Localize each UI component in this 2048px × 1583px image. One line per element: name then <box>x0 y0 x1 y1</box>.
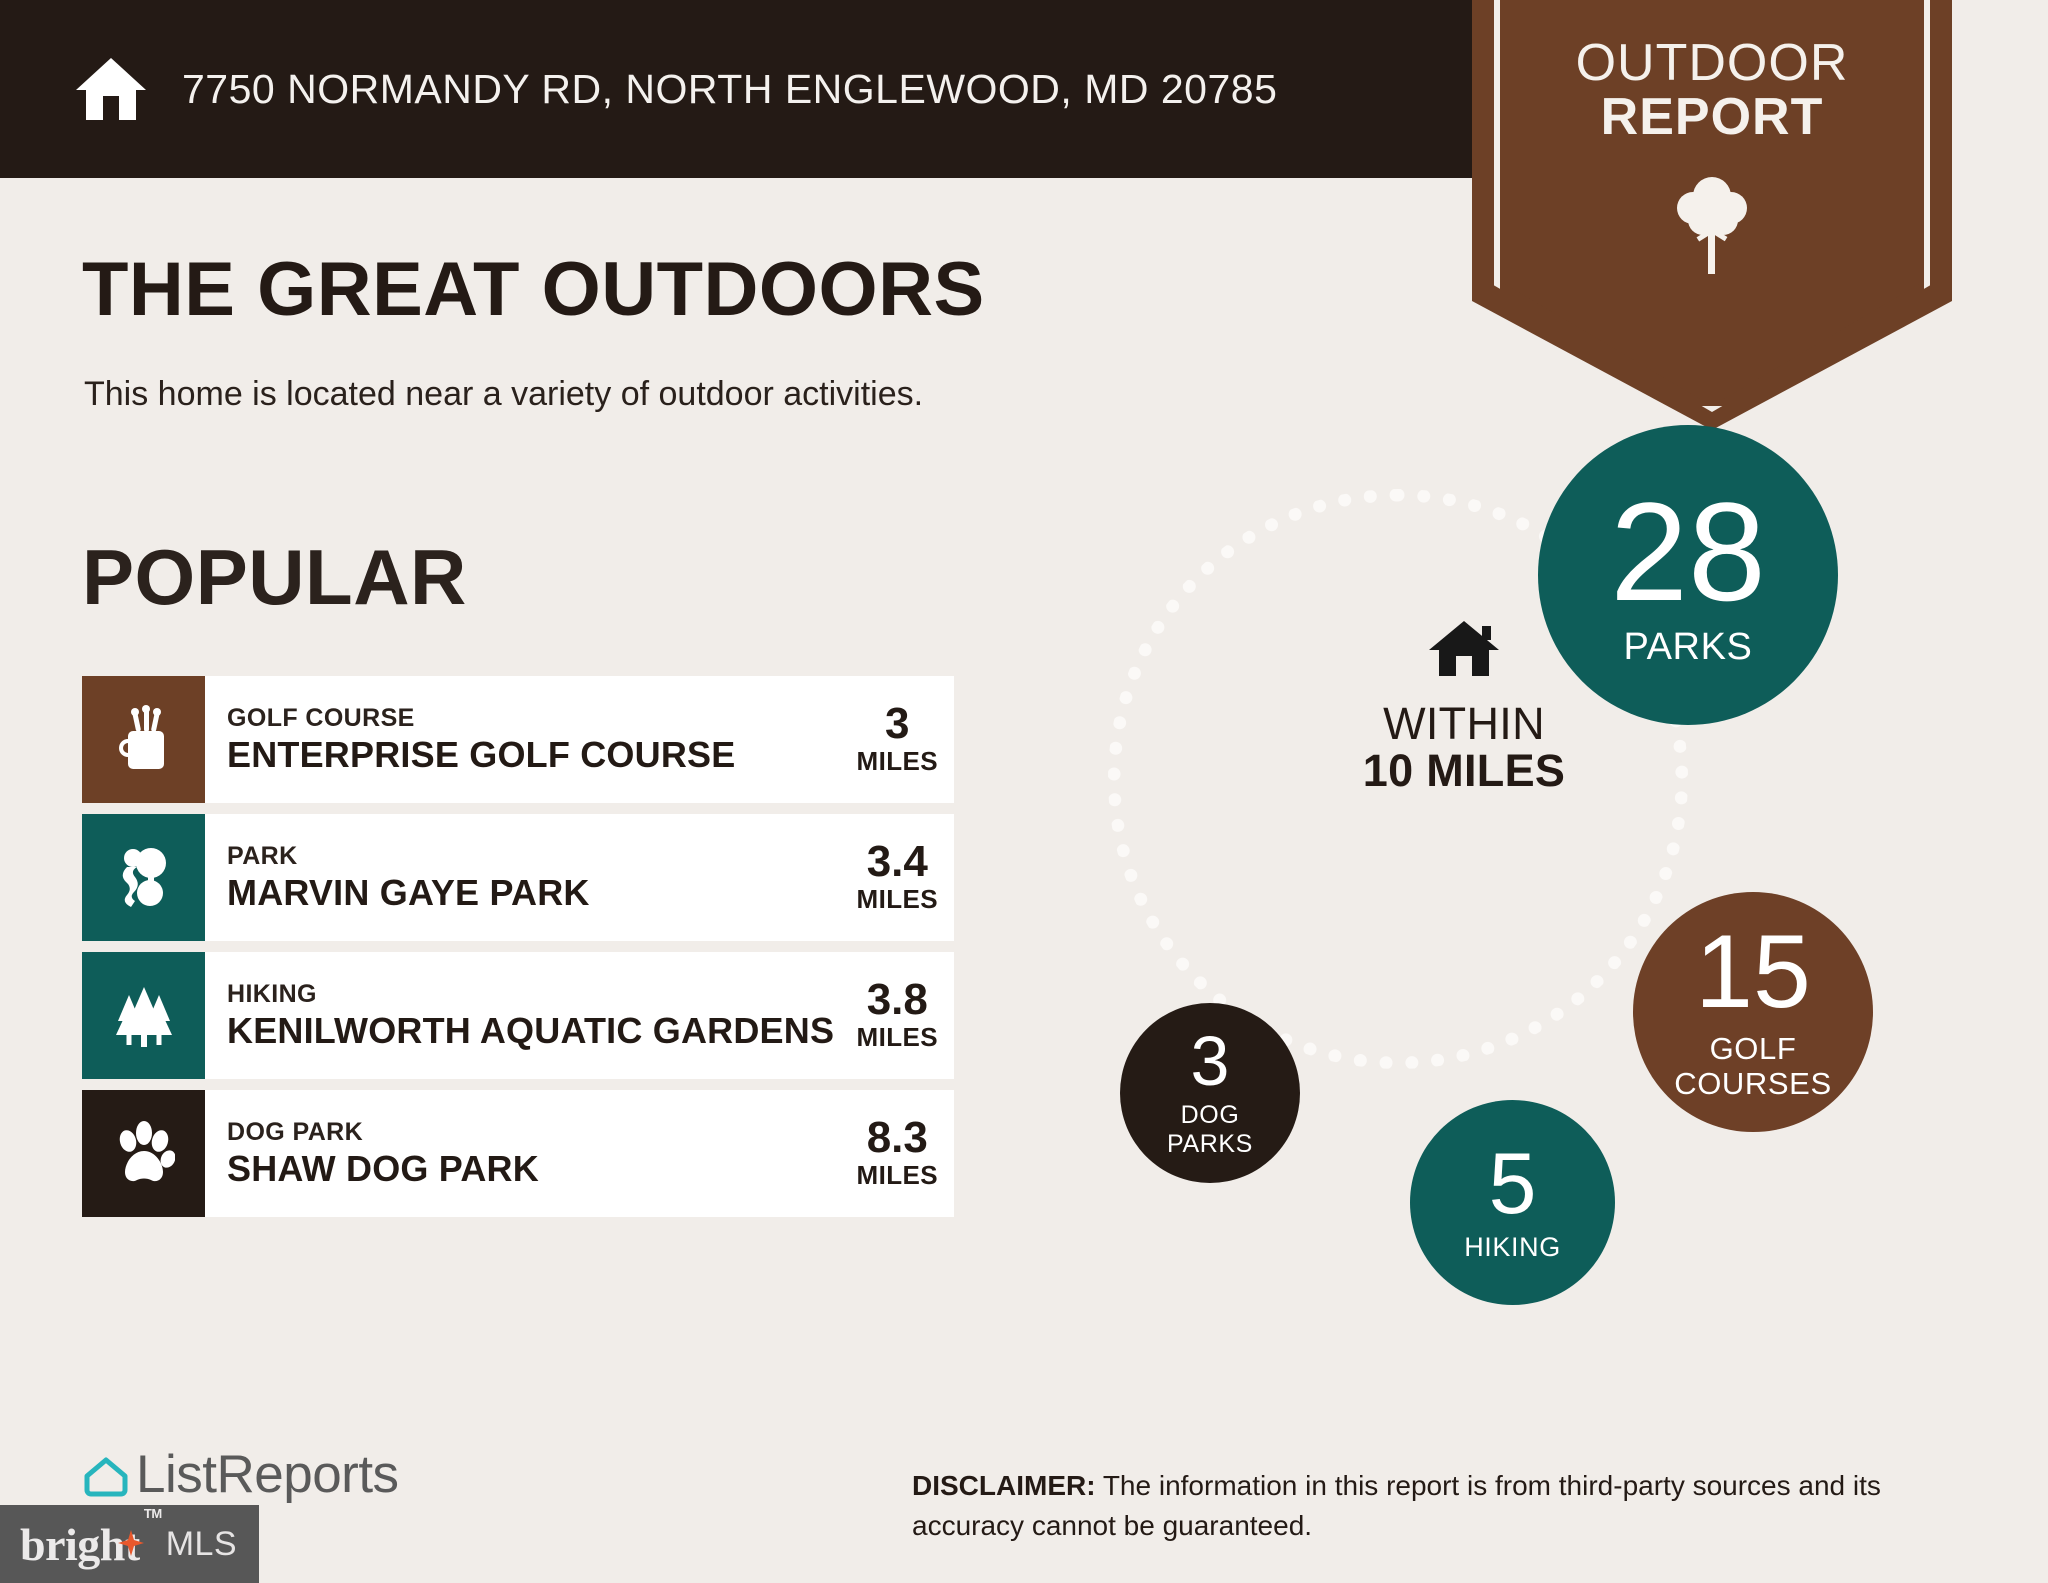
list-item-distance: 3.4 MILES <box>845 840 938 915</box>
trademark-symbol: TM <box>144 1506 162 1521</box>
list-item-distance-unit: MILES <box>857 1022 938 1053</box>
list-item-distance-value: 3.4 <box>857 840 938 884</box>
list-item-name: ENTERPRISE GOLF COURSE <box>227 734 735 775</box>
bubble-golf-label-line2: COURSES <box>1674 1066 1832 1101</box>
list-item-distance-value: 8.3 <box>857 1116 938 1160</box>
list-item-distance-unit: MILES <box>857 746 938 777</box>
bubble-golf-label: GOLF COURSES <box>1674 1031 1832 1102</box>
bright-mls-watermark: bright TM MLS <box>0 1505 259 1583</box>
listreports-wordmark: ListReports <box>136 1444 399 1505</box>
bubble-parks-value: 28 <box>1610 485 1766 618</box>
list-item-category: PARK <box>227 841 590 872</box>
popular-heading: POPULAR <box>82 538 467 616</box>
bubble-golf-courses: 15 GOLF COURSES <box>1633 892 1873 1132</box>
list-item-body: DOG PARK SHAW DOG PARK 8.3 MILES <box>205 1090 954 1217</box>
list-item-texts: HIKING KENILWORTH AQUATIC GARDENS <box>227 979 834 1052</box>
list-item[interactable]: DOG PARK SHAW DOG PARK 8.3 MILES <box>82 1090 954 1217</box>
golf-bag-icon <box>82 676 205 803</box>
chart-center-line1: WITHIN <box>1383 700 1545 747</box>
list-item-name: MARVIN GAYE PARK <box>227 872 590 913</box>
star-icon <box>118 1514 144 1540</box>
list-item-body: PARK MARVIN GAYE PARK 3.4 MILES <box>205 814 954 941</box>
property-address: 7750 NORMANDY RD, NORTH ENGLEWOOD, MD 20… <box>182 66 1277 113</box>
list-item-texts: GOLF COURSE ENTERPRISE GOLF COURSE <box>227 703 735 776</box>
list-item-distance-value: 3.8 <box>857 978 938 1022</box>
bright-wordmark: bright TM <box>20 1518 140 1571</box>
list-item-distance: 3.8 MILES <box>845 978 938 1053</box>
bubble-golf-label-line1: GOLF <box>1674 1031 1832 1066</box>
mls-wordmark: MLS <box>166 1525 237 1564</box>
page-title: THE GREAT OUTDOORS <box>82 252 985 328</box>
list-item-category: DOG PARK <box>227 1117 539 1148</box>
disclaimer: DISCLAIMER: The information in this repo… <box>912 1466 1982 1546</box>
bubble-parks-label: PARKS <box>1623 628 1752 666</box>
bubble-hiking: 5 HIKING <box>1410 1100 1615 1305</box>
house-outline-icon <box>82 1451 130 1499</box>
outdoor-report-page: 7750 NORMANDY RD, NORTH ENGLEWOOD, MD 20… <box>0 0 2048 1583</box>
list-item-distance: 3 MILES <box>845 702 938 777</box>
list-item-distance-unit: MILES <box>857 884 938 915</box>
list-item-name: KENILWORTH AQUATIC GARDENS <box>227 1010 834 1051</box>
list-item-name: SHAW DOG PARK <box>227 1148 539 1189</box>
bubble-dog-parks-label: DOG PARKS <box>1167 1101 1253 1159</box>
outdoor-report-badge: OUTDOOR REPORT <box>1472 0 1952 430</box>
list-item-distance: 8.3 MILES <box>845 1116 938 1191</box>
bubble-dog-parks-label-line2: PARKS <box>1167 1130 1253 1159</box>
disclaimer-label: DISCLAIMER: <box>912 1470 1096 1501</box>
bubble-dog-parks: 3 DOG PARKS <box>1120 1003 1300 1183</box>
list-item-texts: PARK MARVIN GAYE PARK <box>227 841 590 914</box>
list-item-body: HIKING KENILWORTH AQUATIC GARDENS 3.8 MI… <box>205 952 954 1079</box>
chart-center-label: WITHIN 10 MILES <box>1314 618 1614 795</box>
list-item[interactable]: HIKING KENILWORTH AQUATIC GARDENS 3.8 MI… <box>82 952 954 1079</box>
home-icon <box>1427 618 1501 680</box>
list-item-body: GOLF COURSE ENTERPRISE GOLF COURSE 3 MIL… <box>205 676 954 803</box>
bubble-dog-parks-value: 3 <box>1191 1028 1230 1095</box>
pine-trees-icon <box>82 952 205 1079</box>
badge-title-line2: REPORT <box>1601 90 1824 144</box>
bubble-hiking-value: 5 <box>1489 1144 1537 1226</box>
home-icon <box>74 52 148 126</box>
page-subtitle: This home is located near a variety of o… <box>84 375 923 414</box>
bubble-golf-value: 15 <box>1695 923 1811 1022</box>
list-item-texts: DOG PARK SHAW DOG PARK <box>227 1117 539 1190</box>
list-item-distance-unit: MILES <box>857 1160 938 1191</box>
header-bar: 7750 NORMANDY RD, NORTH ENGLEWOOD, MD 20… <box>0 0 1472 178</box>
chart-center-line2: 10 MILES <box>1363 747 1565 794</box>
badge-content: OUTDOOR REPORT <box>1472 0 1952 430</box>
list-item-category: GOLF COURSE <box>227 703 735 734</box>
popular-list: GOLF COURSE ENTERPRISE GOLF COURSE 3 MIL… <box>82 676 954 1228</box>
listreports-logo[interactable]: ListReports <box>82 1444 399 1505</box>
paw-print-icon <box>82 1090 205 1217</box>
badge-title-line1: OUTDOOR <box>1576 36 1849 90</box>
list-item[interactable]: PARK MARVIN GAYE PARK 3.4 MILES <box>82 814 954 941</box>
list-item[interactable]: GOLF COURSE ENTERPRISE GOLF COURSE 3 MIL… <box>82 676 954 803</box>
bubble-dog-parks-label-line1: DOG <box>1167 1101 1253 1130</box>
park-trees-icon <box>82 814 205 941</box>
list-item-category: HIKING <box>227 979 834 1010</box>
bubble-hiking-label: HIKING <box>1464 1234 1561 1261</box>
within-10-miles-chart: 28 PARKS 15 GOLF COURSES 5 HIKING 3 DOG … <box>1080 455 1940 1365</box>
tree-icon <box>1671 170 1753 275</box>
list-item-distance-value: 3 <box>857 702 938 746</box>
